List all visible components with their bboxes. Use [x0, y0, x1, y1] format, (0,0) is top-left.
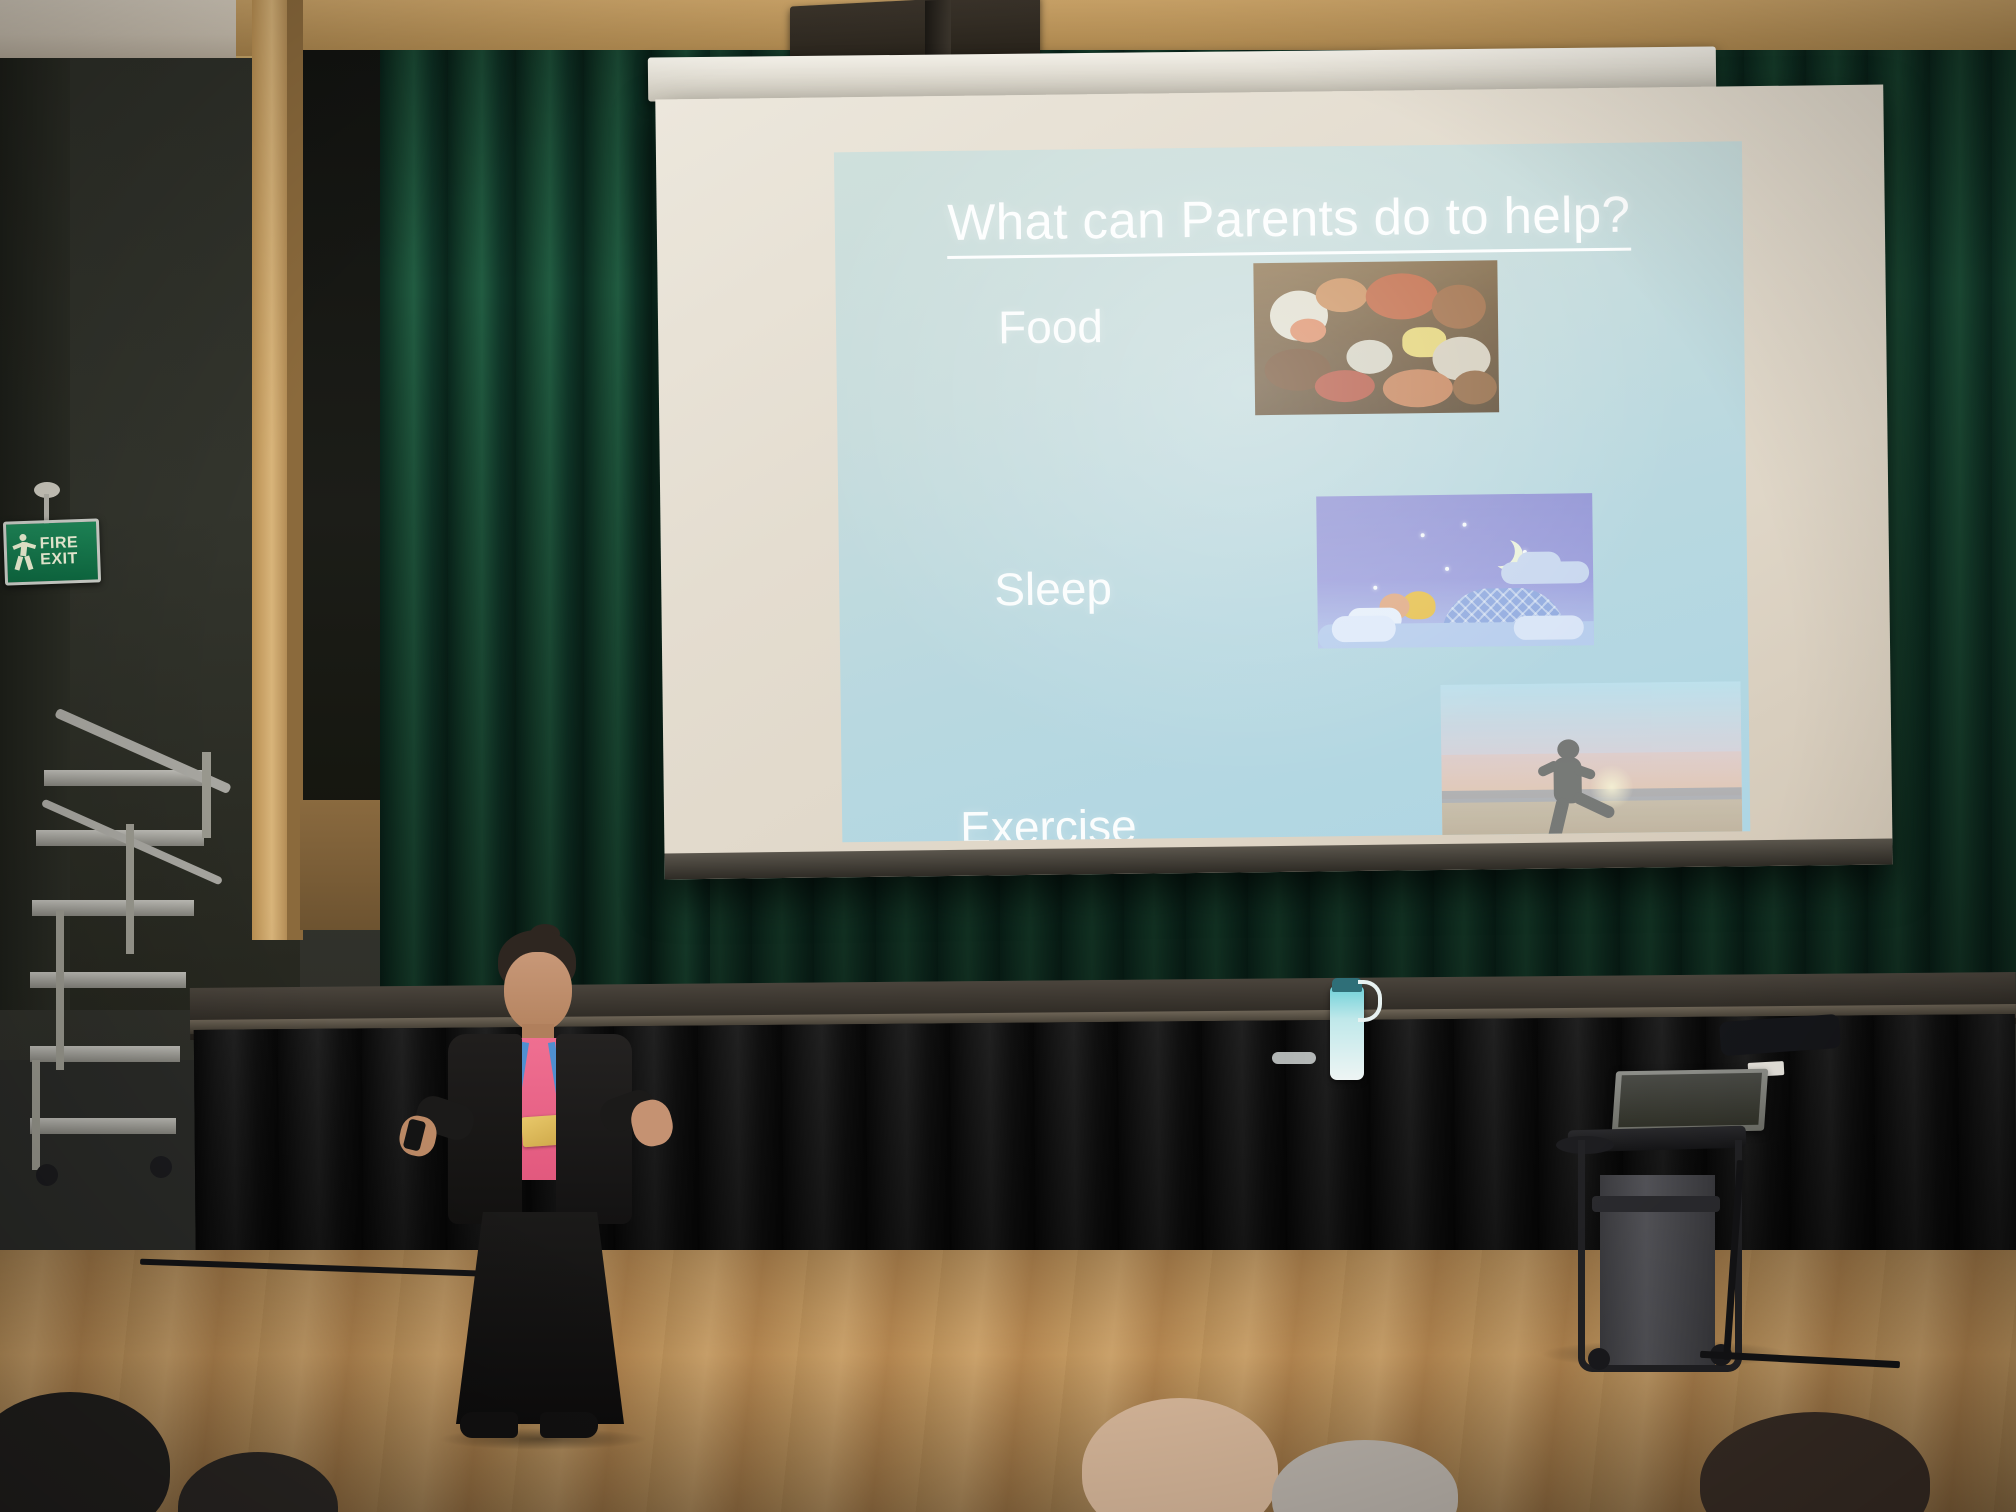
- laptop-screen: [1618, 1073, 1762, 1127]
- presenter-shoe-right: [540, 1412, 598, 1438]
- eyeglasses[interactable]: [1272, 1052, 1316, 1064]
- projected-slide: What can Parents do to help? Food S: [834, 141, 1750, 842]
- presenter-laptop[interactable]: [1612, 1069, 1769, 1134]
- projector-glow: [834, 141, 1750, 842]
- fire-exit-sign: FIRE EXIT: [3, 518, 101, 585]
- av-cart-wheel: [1588, 1348, 1610, 1370]
- fire-exit-sign-text: FIRE EXIT: [39, 535, 79, 568]
- stair-post: [32, 1060, 40, 1170]
- stair-post: [56, 910, 64, 1070]
- stair-step: [30, 1118, 176, 1134]
- stair-step: [30, 972, 186, 988]
- stair-post: [126, 824, 134, 954]
- presenter-skirt: [456, 1212, 624, 1424]
- photo-scene: What can Parents do to help? Food S: [0, 0, 2016, 1512]
- fire-exit-line2: EXIT: [40, 551, 79, 568]
- presenter-shoe-left: [460, 1412, 518, 1438]
- stair-post: [202, 752, 211, 838]
- presenter-face: [504, 952, 572, 1032]
- pull-down-screen: What can Parents do to help? Food S: [655, 85, 1892, 880]
- av-cart-tray: [1592, 1196, 1720, 1212]
- stair-caster: [150, 1156, 172, 1178]
- presenter: [404, 930, 664, 1490]
- running-person-exit-icon: [10, 531, 38, 576]
- proscenium-left-inner: [287, 0, 303, 940]
- stair-caster: [36, 1164, 58, 1186]
- proscenium-top: [236, 0, 2016, 56]
- stair-step: [30, 1046, 180, 1062]
- stage-stairs[interactable]: [30, 760, 250, 1280]
